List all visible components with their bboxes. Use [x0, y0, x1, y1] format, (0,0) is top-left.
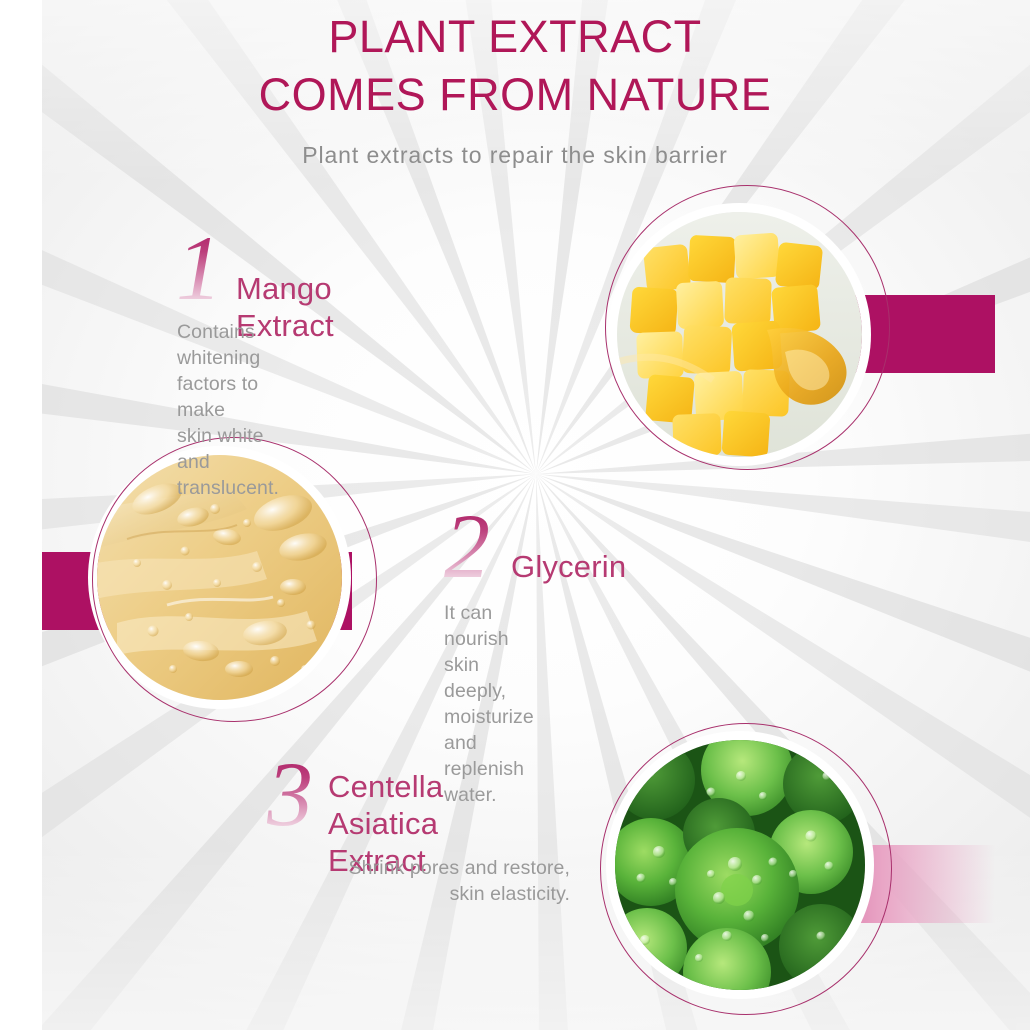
ingredient-description-mango: Contains whitening factors to make skin … — [177, 319, 279, 501]
centella-ring-outline — [600, 723, 892, 1015]
ingredient-number-1: 1 — [176, 222, 222, 314]
page-title: PLANT EXTRACT COMES FROM NATURE — [0, 0, 1030, 124]
page-subtitle: Plant extracts to repair the skin barrie… — [0, 124, 1030, 169]
product-infographic: PLANT EXTRACT COMES FROM NATURE Plant ex… — [0, 0, 1030, 1030]
ingredient-name-glycerin: Glycerin — [511, 548, 626, 585]
ingredient-number-2: 2 — [444, 500, 490, 592]
ingredient-description-glycerin: It can nourish skin deeply, moisturize a… — [444, 600, 534, 808]
mango-ring-outline — [605, 185, 890, 470]
header: PLANT EXTRACT COMES FROM NATURE Plant ex… — [0, 0, 1030, 169]
ingredient-number-3: 3 — [267, 748, 313, 840]
ingredient-description-centella: Shrink pores and restore, skin elasticit… — [318, 855, 570, 907]
